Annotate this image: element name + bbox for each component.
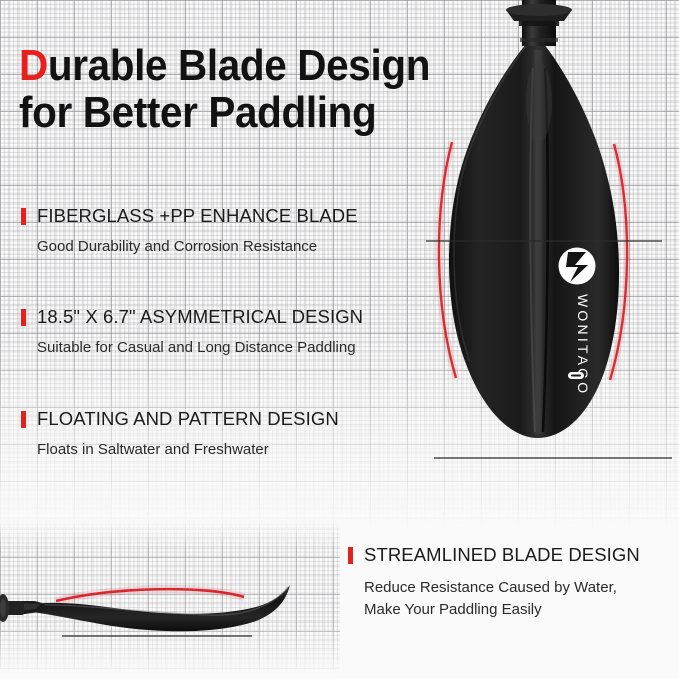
feature-heading: FLOATING AND PATTERN DESIGN	[21, 408, 339, 430]
title-line-1-rest: urable Blade Design	[48, 41, 430, 90]
feature-subtitle-line-2: Make Your Paddling Easily	[364, 599, 640, 621]
title-line-2: for Better Paddling	[19, 88, 376, 137]
paddle-blade-front-view: WONITAGO	[400, 0, 679, 474]
page-title: Durable Blade Design for Better Paddling	[19, 42, 387, 136]
red-bullet-icon	[21, 411, 26, 428]
title-line-1: Durable Blade Design	[19, 41, 430, 90]
feature-item-fiberglass: FIBERGLASS +PP ENHANCE BLADE Good Durabi…	[21, 205, 358, 258]
product-feature-image: WONITAGO	[0, 0, 679, 679]
feature-item-floating: FLOATING AND PATTERN DESIGN Floats in Sa…	[21, 408, 339, 461]
shaft-band-2	[520, 38, 558, 42]
red-bullet-icon	[21, 309, 26, 326]
feature-heading: STREAMLINED BLADE DESIGN	[348, 544, 640, 566]
feature-title: FIBERGLASS +PP ENHANCE BLADE	[37, 205, 358, 227]
feature-title: STREAMLINED BLADE DESIGN	[364, 544, 640, 566]
title-accent-letter: D	[19, 41, 48, 90]
feature-subtitle: Reduce Resistance Caused by Water, Make …	[364, 577, 640, 621]
feature-subtitle: Floats in Saltwater and Freshwater	[37, 439, 339, 461]
feature-title: 18.5" X 6.7" ASYMMETRICAL DESIGN	[37, 306, 363, 328]
paddle-blade-side-view	[0, 545, 334, 655]
red-bullet-icon	[348, 547, 353, 564]
feature-item-asymmetrical: 18.5" X 6.7" ASYMMETRICAL DESIGN Suitabl…	[21, 306, 363, 359]
feature-heading: 18.5" X 6.7" ASYMMETRICAL DESIGN	[21, 306, 363, 328]
feature-subtitle: Suitable for Casual and Long Distance Pa…	[37, 337, 363, 359]
feature-subtitle-line-1: Reduce Resistance Caused by Water,	[364, 577, 640, 599]
feature-title: FLOATING AND PATTERN DESIGN	[37, 408, 339, 430]
blade-vent-slot	[571, 375, 581, 377]
red-bullet-icon	[21, 208, 26, 225]
streamline-curve-glow	[56, 589, 244, 601]
wonitago-logo-icon	[559, 248, 596, 285]
shaft-collar-ring	[506, 4, 572, 16]
feature-heading: FIBERGLASS +PP ENHANCE BLADE	[21, 205, 358, 227]
brand-wordmark: WONITAGO	[575, 294, 591, 396]
side-ferrule-inner	[0, 599, 6, 617]
blade-spine-bulge	[526, 62, 552, 142]
shaft-band-1	[519, 21, 559, 26]
feature-subtitle: Good Durability and Corrosion Resistance	[37, 236, 358, 258]
feature-item-streamlined: STREAMLINED BLADE DESIGN Reduce Resistan…	[348, 544, 640, 621]
